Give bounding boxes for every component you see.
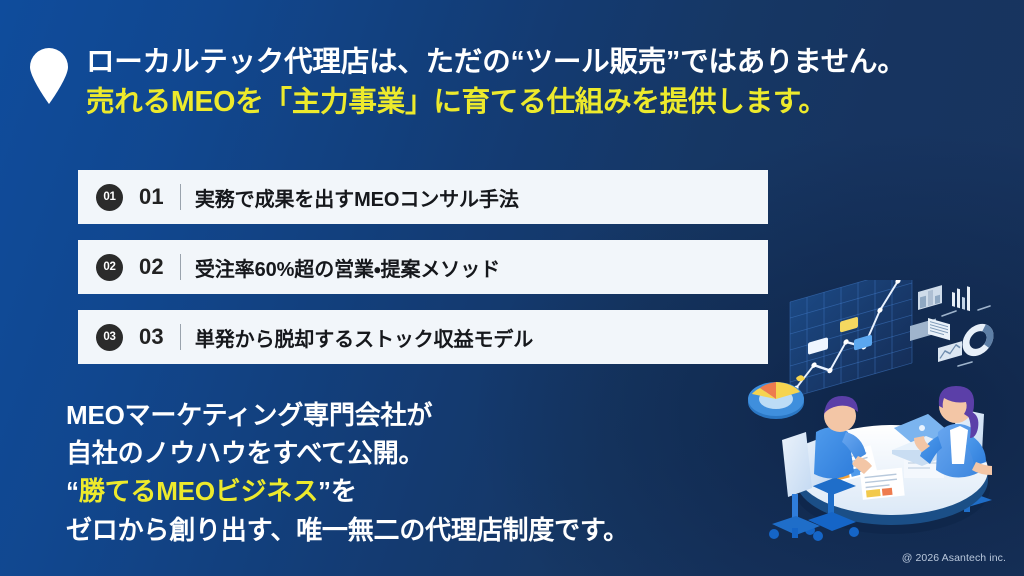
card-separator bbox=[180, 324, 181, 350]
slide-canvas: ローカルテック代理店は、ただの“ツール販売”ではありません。 売れるMEOを「主… bbox=[0, 0, 1024, 576]
illustration-isometric-business-meeting bbox=[742, 280, 1024, 564]
card-number-03: 03 bbox=[139, 324, 164, 350]
feature-card-01[interactable]: 01 01 実務で成果を出すMEOコンサル手法 bbox=[78, 170, 768, 224]
headline-lines: ローカルテック代理店は、ただの“ツール販売”ではありません。 売れるMEOを「主… bbox=[86, 44, 906, 121]
feature-card-03[interactable]: 03 03 単発から脱却するストック収益モデル bbox=[78, 310, 768, 364]
lede-line-1: MEOマーケティング専門会社が bbox=[66, 396, 629, 434]
card-text-03: 単発から脱却するストック収益モデル bbox=[195, 323, 533, 352]
feature-card-02[interactable]: 02 02 受注率60%超の営業・提案メソッド bbox=[78, 240, 768, 294]
lede-line-2: 自社のノウハウをすべて公開。 bbox=[66, 434, 629, 472]
card-separator bbox=[180, 254, 181, 280]
card-text-02: 受注率60%超の営業・提案メソッド bbox=[195, 253, 500, 282]
lede-line-3: “勝てるMEOビジネス”を bbox=[66, 472, 629, 510]
headline-block: ローカルテック代理店は、ただの“ツール販売”ではありません。 売れるMEOを「主… bbox=[28, 44, 906, 121]
card-badge-02: 02 bbox=[96, 254, 123, 281]
lede-line3-tail: を bbox=[331, 476, 357, 506]
card-badge-03: 03 bbox=[96, 324, 123, 351]
lede-quote-close: ” bbox=[318, 476, 331, 506]
card-text-01: 実務で成果を出すMEOコンサル手法 bbox=[195, 183, 519, 212]
lede-line-4: ゼロから創り出す、唯一無二の代理店制度です。 bbox=[66, 511, 629, 549]
card-number-01: 01 bbox=[139, 184, 164, 210]
lede-quote-open: “ bbox=[66, 476, 79, 506]
floating-data-panels bbox=[910, 282, 994, 366]
lede-paragraph: MEOマーケティング専門会社が 自社のノウハウをすべて公開。 “勝てるMEOビジ… bbox=[66, 396, 629, 549]
card-separator bbox=[180, 184, 181, 210]
card-number-02: 02 bbox=[139, 254, 164, 280]
card-badge-01: 01 bbox=[96, 184, 123, 211]
footer-credit: @ 2026 Asantech inc. bbox=[902, 552, 1006, 564]
headline-line-2: 売れるMEOを「主力事業」に育てる仕組みを提供します。 bbox=[86, 84, 906, 122]
feature-card-list: 01 01 実務で成果を出すMEOコンサル手法 02 02 受注率60%超の営業… bbox=[78, 170, 768, 364]
lede-emphasis: 勝てるMEOビジネス bbox=[79, 476, 318, 506]
floating-grid-chart bbox=[790, 280, 912, 398]
headline-line-1: ローカルテック代理店は、ただの“ツール販売”ではありません。 bbox=[86, 44, 906, 82]
map-pin-icon bbox=[28, 48, 70, 104]
